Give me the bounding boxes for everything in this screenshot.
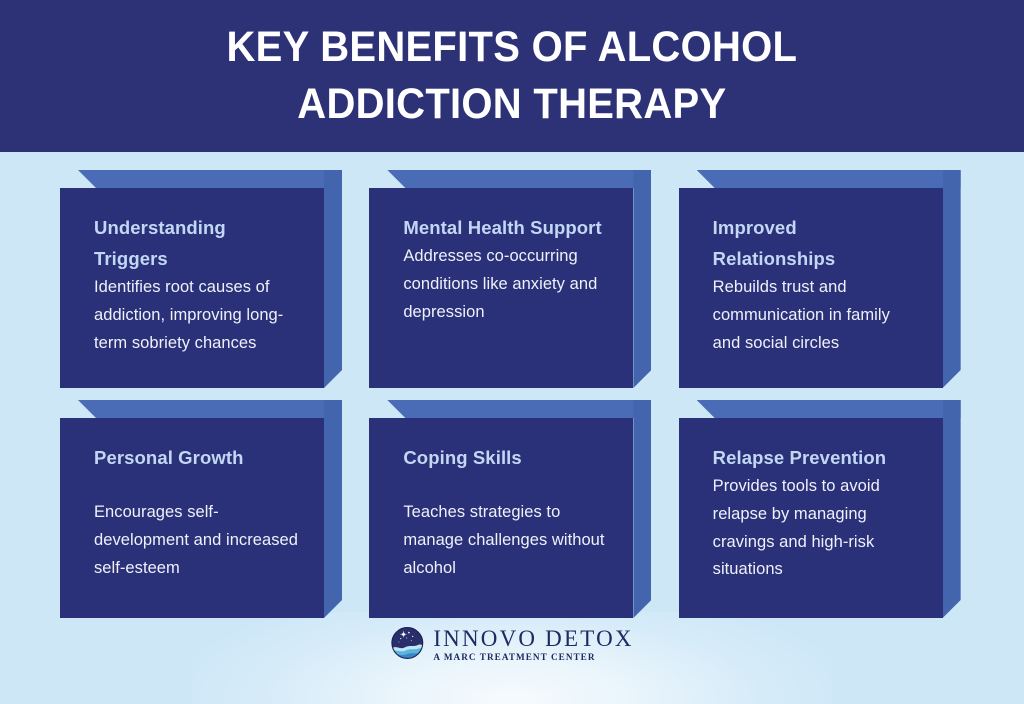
benefit-card-slot: Personal GrowthEncourages self-developme…	[60, 400, 345, 618]
card-top-bevel	[387, 400, 651, 418]
card-top-bevel	[78, 170, 342, 188]
benefit-card-slot: Relapse PreventionProvides tools to avoi…	[679, 400, 964, 618]
benefit-card-slot: Mental Health SupportAddresses co-occurr…	[369, 170, 654, 388]
benefits-card-grid: Understanding TriggersIdentifies root ca…	[60, 170, 964, 618]
benefit-card[interactable]: Coping SkillsTeaches strategies to manag…	[369, 418, 633, 618]
benefit-card-title: Mental Health Support	[403, 212, 611, 243]
benefit-card[interactable]: Improved RelationshipsRebuilds trust and…	[679, 188, 943, 388]
logo-wordmark: INNOVO DETOX A MARC TREATMENT CENTER	[433, 627, 633, 665]
benefit-card-body: Encourages self-development and increase…	[94, 499, 302, 582]
header-banner: KEY BENEFITS OF ALCOHOL ADDICTION THERAP…	[0, 0, 1024, 152]
card-side-bevel	[943, 400, 961, 618]
benefit-card[interactable]: Mental Health SupportAddresses co-occurr…	[369, 188, 633, 388]
benefit-card-slot: Understanding TriggersIdentifies root ca…	[60, 170, 345, 388]
card-top-bevel	[387, 170, 651, 188]
benefit-card-body: Rebuilds trust and communication in fami…	[713, 274, 921, 357]
benefit-card[interactable]: Relapse PreventionProvides tools to avoi…	[679, 418, 943, 618]
benefit-card-slot: Improved RelationshipsRebuilds trust and…	[679, 170, 964, 388]
benefit-card-body: Identifies root causes of addiction, imp…	[94, 274, 302, 357]
card-side-bevel	[324, 400, 342, 618]
card-side-bevel	[633, 400, 651, 618]
logo-name: INNOVO DETOX	[433, 627, 633, 651]
benefit-card-slot: Coping SkillsTeaches strategies to manag…	[369, 400, 654, 618]
card-top-bevel	[78, 400, 342, 418]
card-side-bevel	[324, 170, 342, 388]
card-side-bevel	[943, 170, 961, 388]
benefit-card-title: Coping Skills	[403, 442, 611, 473]
benefit-card[interactable]: Personal GrowthEncourages self-developme…	[60, 418, 324, 618]
benefit-card-body: Addresses co-occurring conditions like a…	[403, 243, 611, 326]
card-side-bevel	[633, 170, 651, 388]
circle-waves-stars-icon	[390, 626, 424, 665]
card-top-bevel	[697, 400, 961, 418]
card-top-bevel	[697, 170, 961, 188]
benefit-card-title: Improved Relationships	[713, 212, 921, 274]
benefit-card-title: Personal Growth	[94, 442, 302, 473]
benefit-card-title: Relapse Prevention	[713, 442, 921, 473]
logo-tagline: A MARC TREATMENT CENTER	[433, 651, 633, 665]
benefit-card[interactable]: Understanding TriggersIdentifies root ca…	[60, 188, 324, 388]
benefit-card-title: Understanding Triggers	[94, 212, 302, 274]
page-title: KEY BENEFITS OF ALCOHOL ADDICTION THERAP…	[227, 19, 798, 133]
benefit-card-body: Teaches strategies to manage challenges …	[403, 499, 611, 582]
brand-logo: INNOVO DETOX A MARC TREATMENT CENTER	[390, 626, 633, 665]
benefit-card-body: Provides tools to avoid relapse by manag…	[713, 473, 921, 584]
